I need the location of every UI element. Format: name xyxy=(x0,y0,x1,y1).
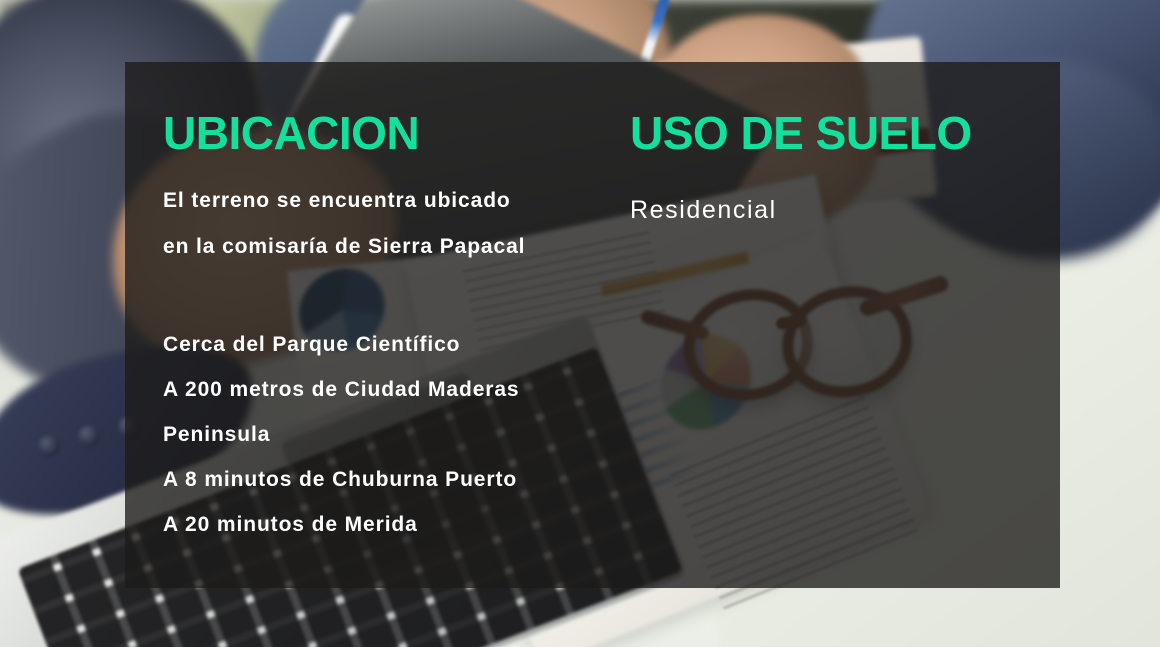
ubicacion-heading: UBICACION xyxy=(163,110,623,156)
ubicacion-intro-line-1: El terreno se encuentra ubicado xyxy=(163,178,623,224)
list-item: Cerca del Parque Científico xyxy=(163,322,623,367)
list-item: A 20 minutos de Merida xyxy=(163,502,623,547)
presentation-slide: UBICACION El terreno se encuentra ubicad… xyxy=(0,0,1160,647)
list-item: A 8 minutos de Chuburna Puerto xyxy=(163,457,623,502)
uso-de-suelo-heading: USO DE SUELO xyxy=(630,110,1030,156)
photo-cuff-button-two xyxy=(78,425,100,447)
list-item: A 200 metros de Ciudad Maderas xyxy=(163,367,623,412)
content-overlay-panel: UBICACION El terreno se encuentra ubicad… xyxy=(125,62,1060,588)
ubicacion-column: UBICACION El terreno se encuentra ubicad… xyxy=(163,110,623,547)
ubicacion-bullet-list: Cerca del Parque Científico A 200 metros… xyxy=(163,322,623,547)
ubicacion-intro-line-2: en la comisaría de Sierra Papacal xyxy=(163,224,623,270)
list-item: Peninsula xyxy=(163,412,623,457)
ubicacion-intro-block: El terreno se encuentra ubicado en la co… xyxy=(163,178,623,270)
uso-de-suelo-column: USO DE SUELO Residencial xyxy=(630,110,1030,225)
photo-cuff-button-one xyxy=(38,435,60,457)
uso-de-suelo-value: Residencial xyxy=(630,196,1030,225)
